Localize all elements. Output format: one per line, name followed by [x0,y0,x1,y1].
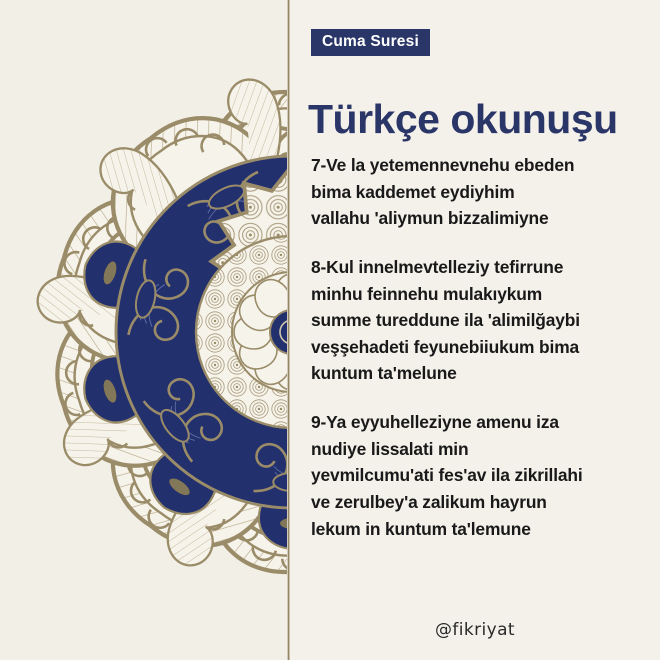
verse-line: yevmilcumu'ati fes'av ila zikrillahi [311,462,651,489]
verse-line: nudiye lissalati min [311,436,651,463]
verse-line: minhu feinnehu mulakıykum [311,281,651,308]
verse-line: veşşehadeti feyunebiiukum bima [311,334,651,361]
poster-canvas: Cuma Suresi Türkçe okunuşu 7-Ve la yetem… [0,0,660,660]
mandala-ornament-panel [0,0,290,660]
verse-line: ve zerulbey'a zalikum hayrun [311,489,651,516]
verse-line: 9-Ya eyyuhelleziyne amenu iza [311,409,651,436]
verse-list: 7-Ve la yetemennevnehu ebeden bima kadde… [311,152,651,542]
mandala-paisley-ornament [0,0,290,660]
text-panel: Cuma Suresi Türkçe okunuşu 7-Ve la yetem… [290,0,660,660]
brand-watermark: @fikriyat [290,620,660,640]
verse-line: bima kaddemet eydiyhim [311,179,651,206]
verse-line: vallahu 'aliymun bizzalimiyne [311,205,651,232]
surah-badge: Cuma Suresi [311,29,430,56]
verse-line: kuntum ta'melune [311,360,651,387]
verse-block-9: 9-Ya eyyuhelleziyne amenu iza nudiye lis… [311,409,651,542]
verse-line: 8-Kul innelmevtelleziy tefirrune [311,254,651,281]
page-title: Türkçe okunuşu [308,97,618,142]
verse-line: lekum in kuntum ta'lemune [311,516,651,543]
verse-block-7: 7-Ve la yetemennevnehu ebeden bima kadde… [311,152,651,232]
verse-line: 7-Ve la yetemennevnehu ebeden [311,152,651,179]
verse-line: summe tureddune ila 'alimilğaybi [311,307,651,334]
verse-block-8: 8-Kul innelmevtelleziy tefirrune minhu f… [311,254,651,387]
